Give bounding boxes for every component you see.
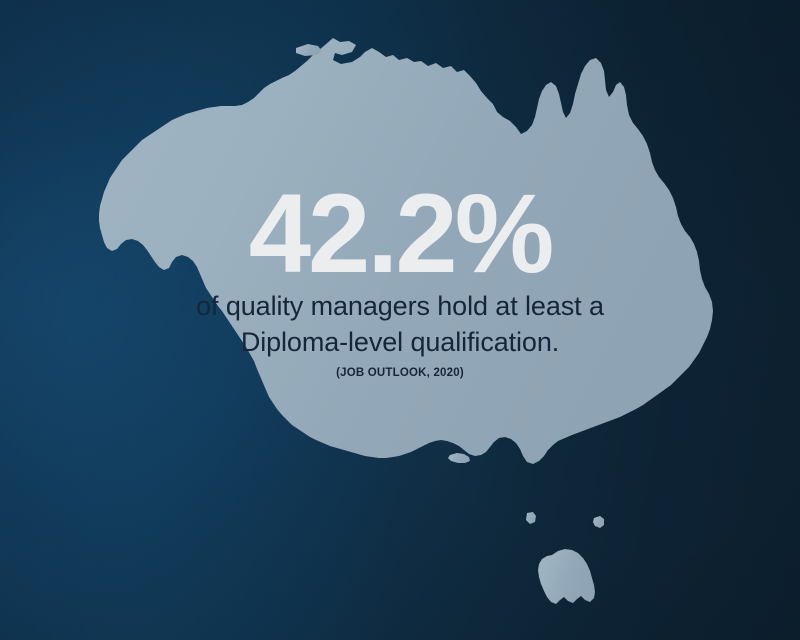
australia-map-icon: [0, 0, 800, 640]
infographic-canvas: 42.2% of quality managers hold at least …: [0, 0, 800, 640]
